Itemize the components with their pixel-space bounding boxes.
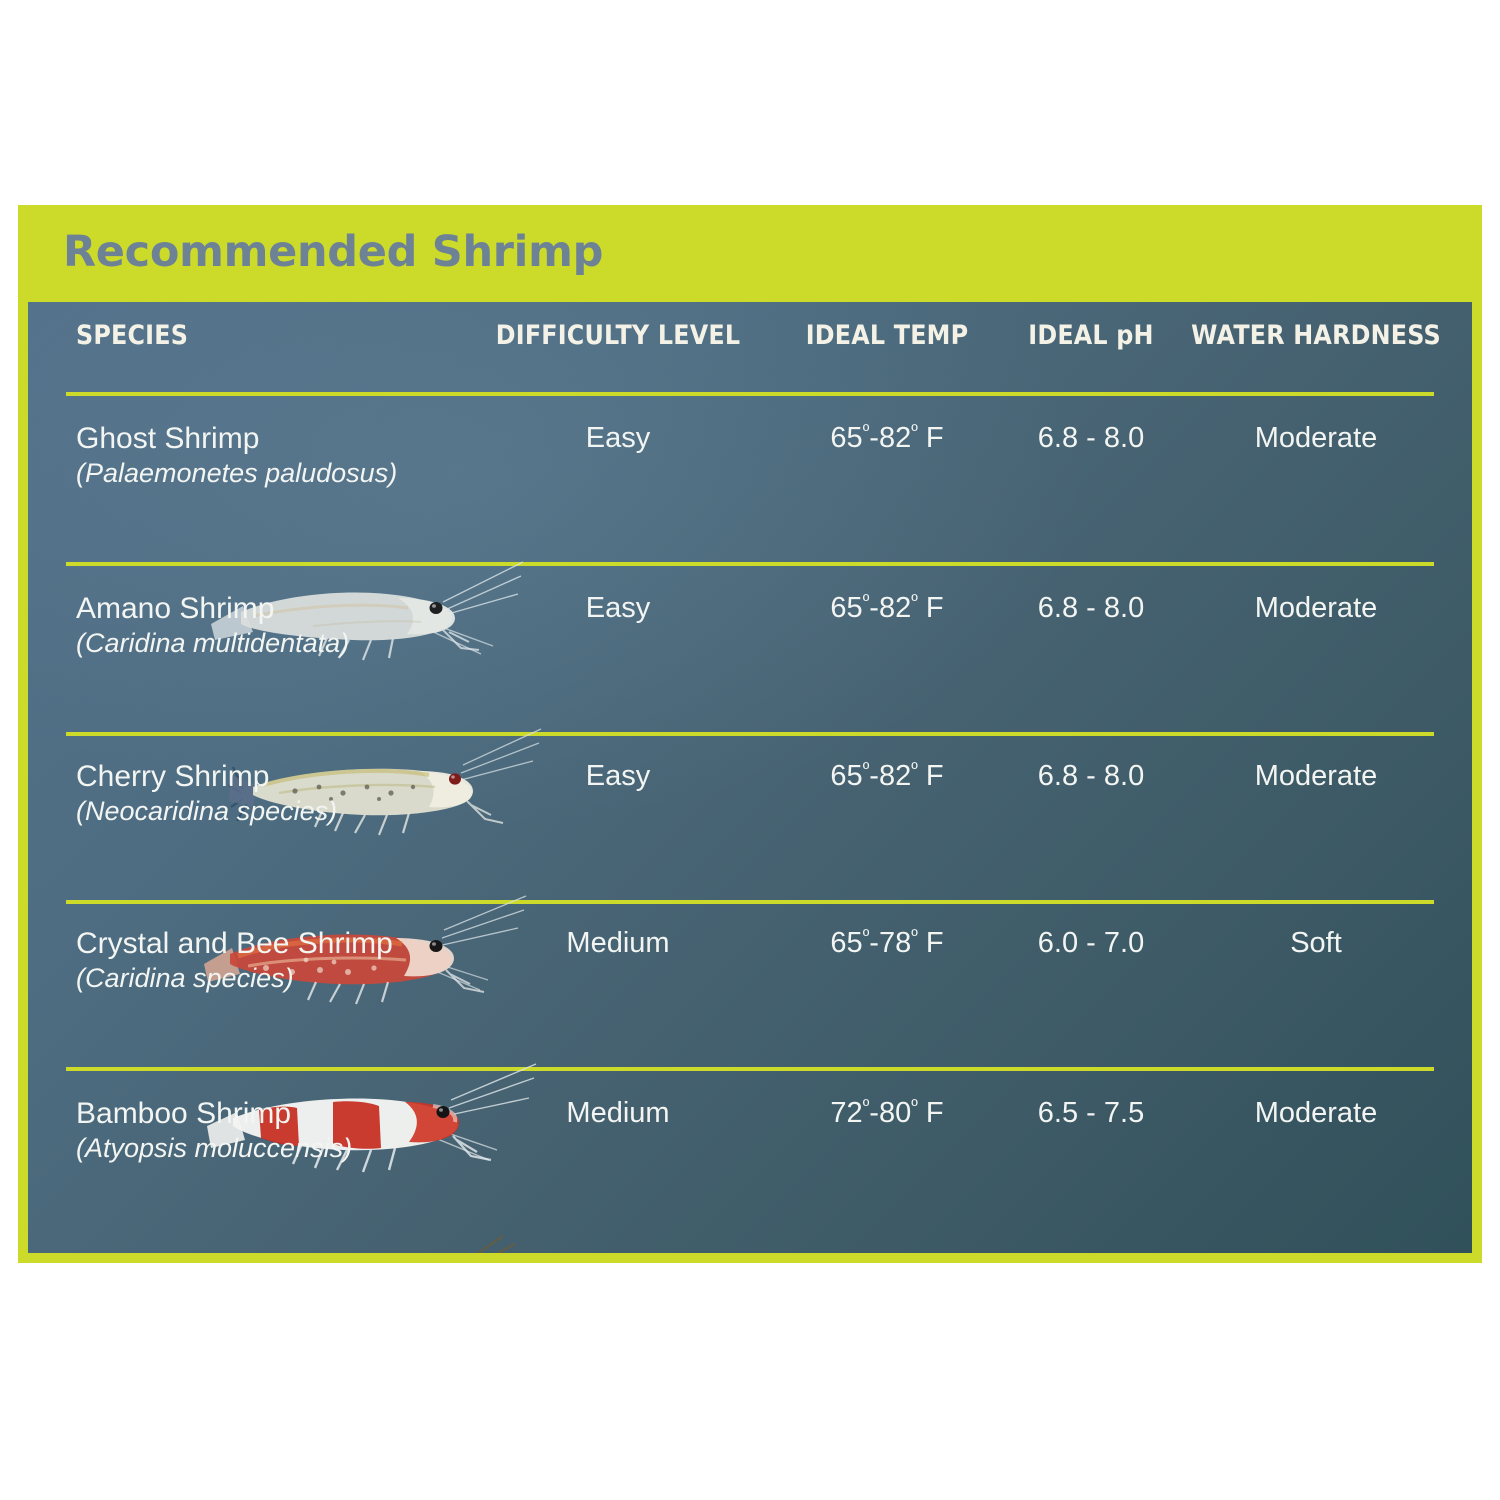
ideal-temp-value: 65º-82º F bbox=[768, 760, 1006, 793]
difficulty-value: Medium bbox=[468, 927, 768, 960]
water-hardness-value: Moderate bbox=[1176, 592, 1456, 625]
ideal-temp-value: 65º-82º F bbox=[768, 422, 1006, 455]
divider-row-1 bbox=[66, 562, 1434, 566]
table-row: Crystal and Bee Shrimp (Caridina species… bbox=[28, 927, 1472, 1067]
species-latin-name: (Caridina species) bbox=[76, 963, 294, 994]
difficulty-value: Easy bbox=[468, 592, 768, 625]
species-common-name: Amano Shrimp bbox=[76, 592, 274, 626]
species-common-name: Crystal and Bee Shrimp bbox=[76, 927, 393, 961]
ideal-ph-value: 6.8 - 8.0 bbox=[1006, 760, 1176, 793]
difficulty-value: Easy bbox=[468, 760, 768, 793]
shrimp-table-panel: SPECIES DIFFICULTY LEVEL IDEAL TEMP IDEA… bbox=[28, 302, 1472, 1253]
table-header-row: SPECIES DIFFICULTY LEVEL IDEAL TEMP IDEA… bbox=[28, 320, 1472, 384]
recommended-shrimp-infographic: Recommended Shrimp SPECIES DIFFICULTY LE… bbox=[18, 205, 1482, 1263]
species-latin-name: (Caridina multidentata) bbox=[76, 628, 349, 659]
ideal-temp-value: 65º-82º F bbox=[768, 592, 1006, 625]
ideal-ph-value: 6.5 - 7.5 bbox=[1006, 1097, 1176, 1130]
water-hardness-value: Moderate bbox=[1176, 1097, 1456, 1130]
difficulty-value: Medium bbox=[468, 1097, 768, 1130]
water-hardness-value: Soft bbox=[1176, 927, 1456, 960]
table-row: Bamboo Shrimp (Atyopsis moluccensis) Med… bbox=[28, 1097, 1472, 1237]
page-title: Recommended Shrimp bbox=[63, 227, 603, 277]
table-row: Amano Shrimp (Caridina multidentata) Eas… bbox=[28, 592, 1472, 732]
species-latin-name: (Neocaridina species) bbox=[76, 796, 337, 827]
divider-row-4 bbox=[66, 1067, 1434, 1071]
column-header-species: SPECIES bbox=[76, 320, 427, 351]
ideal-ph-value: 6.8 - 8.0 bbox=[1006, 422, 1176, 455]
ideal-ph-value: 6.8 - 8.0 bbox=[1006, 592, 1176, 625]
difficulty-value: Easy bbox=[468, 422, 768, 455]
table-row: Cherry Shrimp (Neocaridina species) Easy… bbox=[28, 760, 1472, 900]
ideal-temp-value: 65º-78º F bbox=[768, 927, 1006, 960]
column-header-difficulty: DIFFICULTY LEVEL bbox=[483, 320, 753, 351]
table-row: Ghost Shrimp (Palaemonetes paludosus) Ea… bbox=[28, 422, 1472, 562]
species-common-name: Cherry Shrimp bbox=[76, 760, 269, 794]
species-latin-name: (Atyopsis moluccensis) bbox=[76, 1133, 352, 1164]
species-latin-name: (Palaemonetes paludosus) bbox=[76, 458, 397, 489]
species-common-name: Bamboo Shrimp bbox=[76, 1097, 291, 1131]
divider-row-2 bbox=[66, 732, 1434, 736]
ideal-temp-value: 72º-80º F bbox=[768, 1097, 1006, 1130]
divider-row-3 bbox=[66, 900, 1434, 904]
water-hardness-value: Moderate bbox=[1176, 422, 1456, 455]
column-header-ideal-ph: IDEAL pH bbox=[1015, 320, 1168, 351]
species-common-name: Ghost Shrimp bbox=[76, 422, 259, 456]
ideal-ph-value: 6.0 - 7.0 bbox=[1006, 927, 1176, 960]
divider-header bbox=[66, 392, 1434, 396]
column-header-water-hardness: WATER HARDNESS bbox=[1190, 320, 1442, 351]
water-hardness-value: Moderate bbox=[1176, 760, 1456, 793]
title-band: Recommended Shrimp bbox=[18, 205, 1482, 302]
column-header-ideal-temp: IDEAL TEMP bbox=[780, 320, 994, 351]
